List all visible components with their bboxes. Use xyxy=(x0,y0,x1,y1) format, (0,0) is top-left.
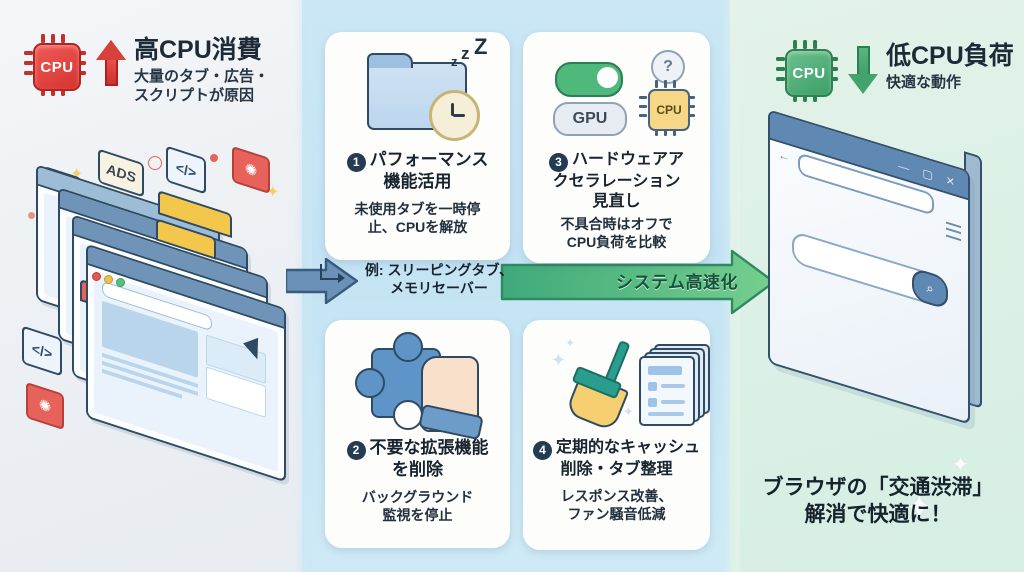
card-cache-tab-cleanup[interactable]: ✦ ✦ ✦ 4 定期的なキャッシュ 削除・タブ整理 xyxy=(523,320,710,550)
gear-badge-icon: ✺ xyxy=(26,382,64,430)
sparkle-icon: ✦ xyxy=(565,336,575,350)
overloaded-browser-stack-illustration: ✦ ✦ ▤ ADS </> ✺ </> ✺ xyxy=(8,150,298,450)
card-sub-line-2: 止、CPUを解放 xyxy=(355,218,481,236)
gear-badge-icon: ✺ xyxy=(232,146,270,194)
header-left-title: 高CPU消費 xyxy=(134,36,269,64)
card-title-line-1: ハードウェアア xyxy=(572,150,684,170)
card-number: 2 xyxy=(347,441,366,460)
note-arrow-icon xyxy=(320,264,340,280)
arrow-up-icon xyxy=(94,34,128,96)
cpu-chip-yellow-icon: CPU xyxy=(639,80,695,136)
card-title-line-1: 定期的なキャッシュ xyxy=(556,438,700,458)
window-dot-green xyxy=(116,278,125,287)
header-high-cpu: CPU 高CPU消費 大量のタブ・広告・ スクリプトが原因 xyxy=(24,34,269,105)
window-dot-yellow xyxy=(104,275,113,284)
card-hardware-acceleration[interactable]: GPU ? CPU 3 ハードウェアア クセラレーション 見直し 不具合時はオフ… xyxy=(523,32,710,263)
card-sub-line-1: 未使用タブを一時停 xyxy=(355,200,481,218)
sleeping-folder-clock-icon: z z Z xyxy=(333,40,502,150)
green-arrow-label: システム高速化 xyxy=(592,268,762,293)
browser-window-clean: — ▢ ✕ ← → ⟳ ⌕ xyxy=(768,109,970,425)
card-sub-line-2: CPU負荷を比較 xyxy=(561,233,673,251)
dot-decor xyxy=(28,212,35,219)
card-title-line-2: 機能活用 xyxy=(333,172,502,193)
card-sub-line-1: バックグラウンド xyxy=(362,488,473,506)
question-mark-icon: ? xyxy=(651,50,685,84)
card-number: 3 xyxy=(549,153,568,172)
header-left-sub-2: スクリプトが原因 xyxy=(134,86,269,105)
card-number: 4 xyxy=(533,441,552,460)
card-title-line-2: クセラレーション xyxy=(531,172,702,192)
card-performance-features[interactable]: z z Z 1 パフォーマンス 機能活用 未使用タブを一時停 止、CPUを解放 xyxy=(325,32,510,260)
card-title: 4 定期的なキャッシュ 削除・タブ整理 xyxy=(531,438,702,480)
card-title: 2 不要な拡張機能 を削除 xyxy=(333,438,502,481)
zzz-small: z xyxy=(451,54,458,69)
toggle-switch[interactable] xyxy=(555,62,623,97)
dot-decor xyxy=(210,154,218,162)
header-low-cpu: CPU 低CPU負荷 快適な動作 xyxy=(776,40,1014,102)
card-subtitle: 不具合時はオフで CPU負荷を比較 xyxy=(561,215,673,251)
caption-line-1: ブラウザの「交通渋滞」 xyxy=(742,474,1014,501)
clock-icon xyxy=(429,90,480,141)
broom-documents-icon: ✦ ✦ ✦ xyxy=(531,328,702,438)
zzz-mid: z xyxy=(461,44,470,64)
card-subtitle: レスポンス改善、 ファン騒音低減 xyxy=(561,487,673,523)
header-right-title: 低CPU負荷 xyxy=(886,42,1014,70)
card-subtitle: バックグラウンド 監視を停止 xyxy=(362,488,473,524)
cpu-chip-green-icon: CPU xyxy=(776,40,838,102)
cpu-chip-label: CPU xyxy=(33,43,81,91)
window-dot-red xyxy=(92,272,101,281)
card-title-line-2: を削除 xyxy=(333,460,502,481)
magnifier-icon[interactable]: ⌕ xyxy=(912,267,948,310)
cpu-chip-label: CPU xyxy=(785,49,833,97)
menu-icon[interactable] xyxy=(946,222,961,242)
cpu-chip-red-icon: CPU xyxy=(24,34,86,96)
gpu-toggle-cpu-icon: GPU ? CPU xyxy=(531,40,702,150)
example-note: 例: スリーピングタブ、 メモリセーバー xyxy=(344,262,534,298)
clean-browser-illustration: — ▢ ✕ ← → ⟳ ⌕ xyxy=(768,140,990,440)
arrow-down-icon xyxy=(846,40,880,102)
card-number: 1 xyxy=(347,153,366,172)
code-badge-icon: </> xyxy=(166,146,206,195)
zzz-large: Z xyxy=(474,34,487,60)
card-subtitle: 未使用タブを一時停 止、CPUを解放 xyxy=(355,200,481,236)
card-sub-line-1: レスポンス改善、 xyxy=(561,487,673,505)
gpu-label: GPU xyxy=(553,102,627,136)
sparkle-icon: ✦ xyxy=(623,404,634,420)
card-sub-line-2: ファン騒音低減 xyxy=(561,505,673,523)
card-title-line-3: 見直し xyxy=(531,192,702,212)
header-left-sub-1: 大量のタブ・広告・ xyxy=(134,67,269,86)
caption-line-2: 解消で快適に！ xyxy=(742,501,1014,528)
card-sub-line-1: 不具合時はオフで xyxy=(561,215,673,233)
card-remove-extensions[interactable]: 2 不要な拡張機能 を削除 バックグラウンド 監視を停止 xyxy=(325,320,510,548)
card-title: 1 パフォーマンス 機能活用 xyxy=(333,150,502,193)
card-sub-line-2: 監視を停止 xyxy=(362,506,473,524)
result-caption: ブラウザの「交通渋滞」 解消で快適に！ xyxy=(742,474,1014,529)
code-badge-icon: </> xyxy=(22,326,62,377)
sparkle-icon: ✦ xyxy=(551,350,566,371)
infographic-canvas: CPU 高CPU消費 大量のタブ・広告・ スクリプトが原因 ✦ ✦ ▤ ADS … xyxy=(0,0,1024,572)
note-line-2: メモリセーバー xyxy=(344,280,534,298)
cpu-chip-label: CPU xyxy=(648,89,690,131)
note-line-1: 例: スリーピングタブ、 xyxy=(344,262,534,280)
header-right-sub-1: 快適な動作 xyxy=(886,73,1014,92)
card-title: 3 ハードウェアア クセラレーション 見直し xyxy=(531,150,702,211)
puzzle-piece-hand-icon xyxy=(333,328,502,438)
ring-decor xyxy=(148,156,162,170)
card-title-line-1: パフォーマンス xyxy=(370,150,489,171)
card-title-line-2: 削除・タブ整理 xyxy=(531,460,702,480)
search-bar[interactable]: ⌕ xyxy=(792,230,946,309)
card-title-line-1: 不要な拡張機能 xyxy=(370,438,489,459)
